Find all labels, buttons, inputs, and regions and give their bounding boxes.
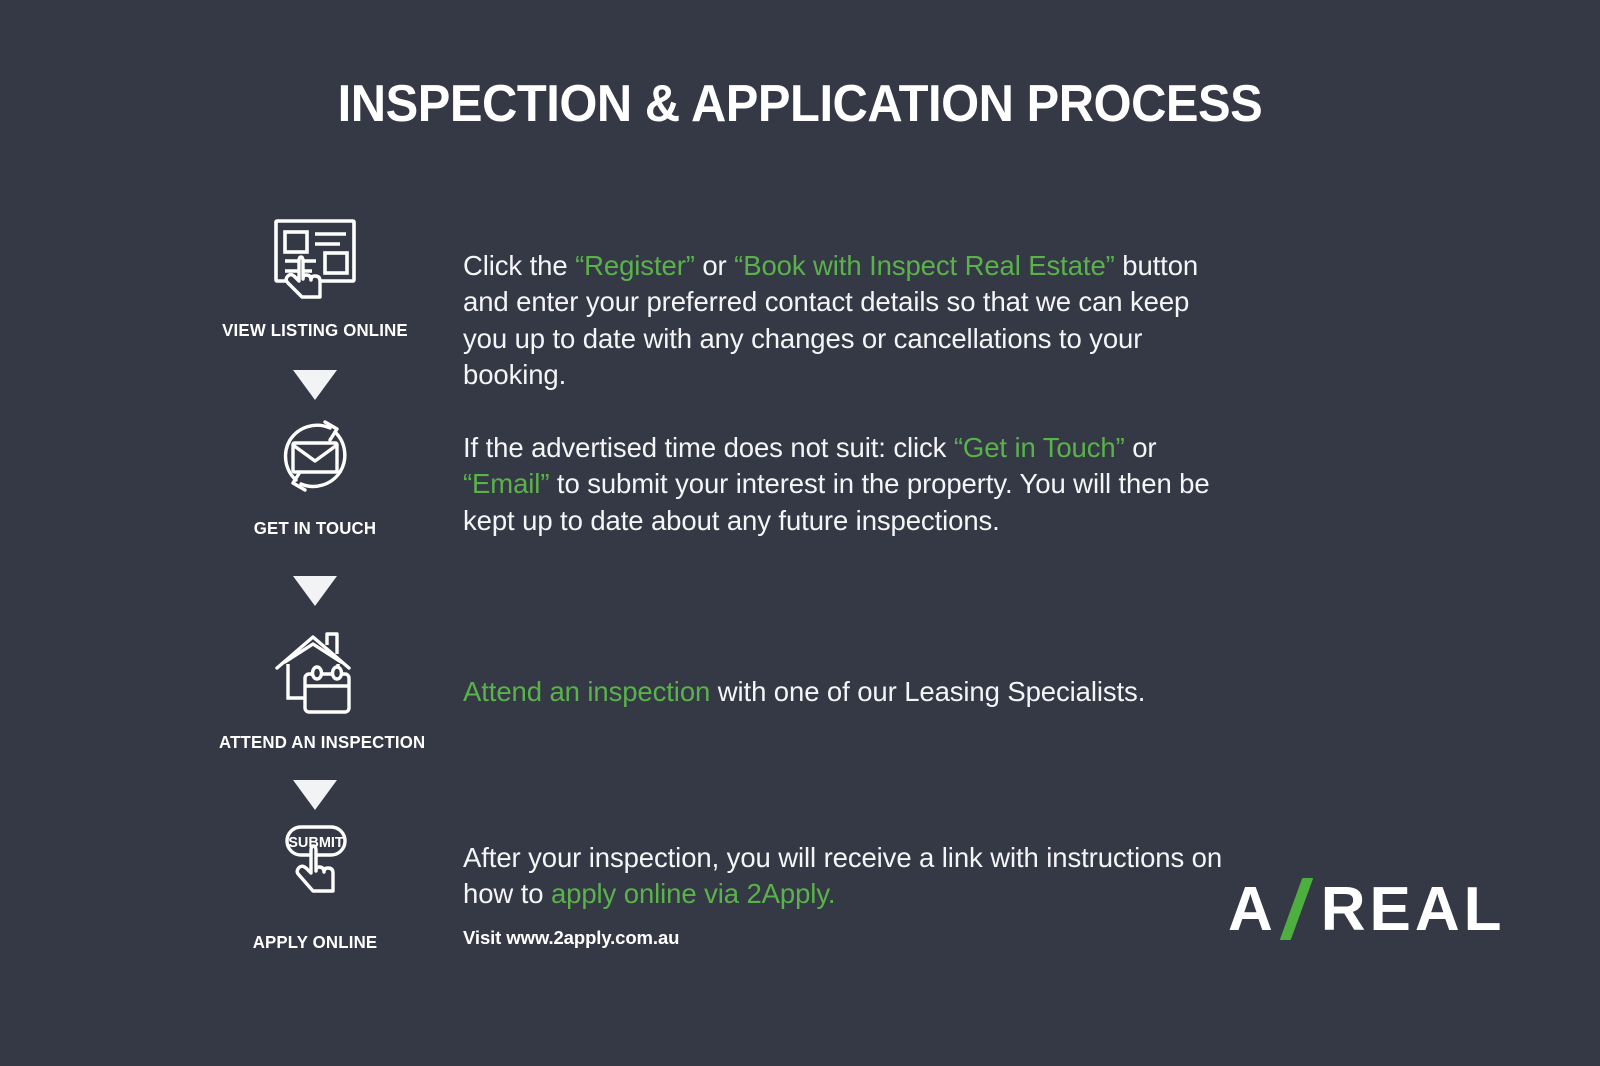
step-2-text: If the advertised time does not suit: cl… <box>463 430 1233 539</box>
step-4-text-part-2: apply online via 2Apply. <box>551 878 836 909</box>
step-3-label: ATTEND AN INSPECTION <box>219 732 411 753</box>
step-1-icon-column: VIEW LISTING ONLINE <box>215 210 415 341</box>
step-1-text-part-1: Click the <box>463 250 575 281</box>
step-3-icon-column: ATTEND AN INSPECTION <box>215 622 415 753</box>
step-3-text-part-1: Attend an inspection <box>463 676 710 707</box>
step-2-text-part-1: If the advertised time does not suit: cl… <box>463 432 954 463</box>
step-1-label: VIEW LISTING ONLINE <box>219 320 411 341</box>
step-4-footnote: Visit www.2apply.com.au <box>463 927 679 949</box>
infographic-poster: INSPECTION & APPLICATION PROCESS <box>0 0 1600 1066</box>
page-title: INSPECTION & APPLICATION PROCESS <box>48 74 1552 134</box>
step-4-icon-column: SUBMIT APPLY ONLINE <box>215 822 415 953</box>
logo-word-real: REAL <box>1321 874 1506 945</box>
arrow-step-1-to-2 <box>215 370 415 400</box>
step-1-text-part-4: “Book with Inspect Real Estate” <box>734 250 1115 281</box>
brand-logo: A REAL <box>1228 878 1506 940</box>
logo-letter-a: A <box>1228 874 1277 945</box>
logo-slash-icon <box>1277 878 1321 940</box>
step-1-text: Click the “Register” or “Book with Inspe… <box>463 248 1233 393</box>
arrow-step-2-to-3 <box>215 576 415 606</box>
step-2-text-part-4: “Email” <box>463 468 549 499</box>
step-1-text-part-2: “Register” <box>575 250 695 281</box>
envelope-refresh-icon <box>215 408 415 504</box>
step-2-text-part-2: “Get in Touch” <box>954 432 1125 463</box>
step-4-text: After your inspection, you will receive … <box>463 840 1233 913</box>
arrow-step-3-to-4 <box>215 780 415 810</box>
step-3-text-part-2: with one of our Leasing Specialists. <box>710 676 1145 707</box>
step-1-text-part-3: or <box>695 250 734 281</box>
house-calendar-icon <box>215 622 415 718</box>
submit-button-cursor-icon: SUBMIT <box>215 822 415 918</box>
step-2-label: GET IN TOUCH <box>219 518 411 539</box>
listing-page-cursor-icon <box>215 210 415 306</box>
step-2-icon-column: GET IN TOUCH <box>215 408 415 539</box>
step-3-text: Attend an inspection with one of our Lea… <box>463 674 1233 710</box>
step-4-label: APPLY ONLINE <box>219 932 411 953</box>
step-2-text-part-5: to submit your interest in the property.… <box>463 468 1210 535</box>
step-2-text-part-3: or <box>1125 432 1157 463</box>
